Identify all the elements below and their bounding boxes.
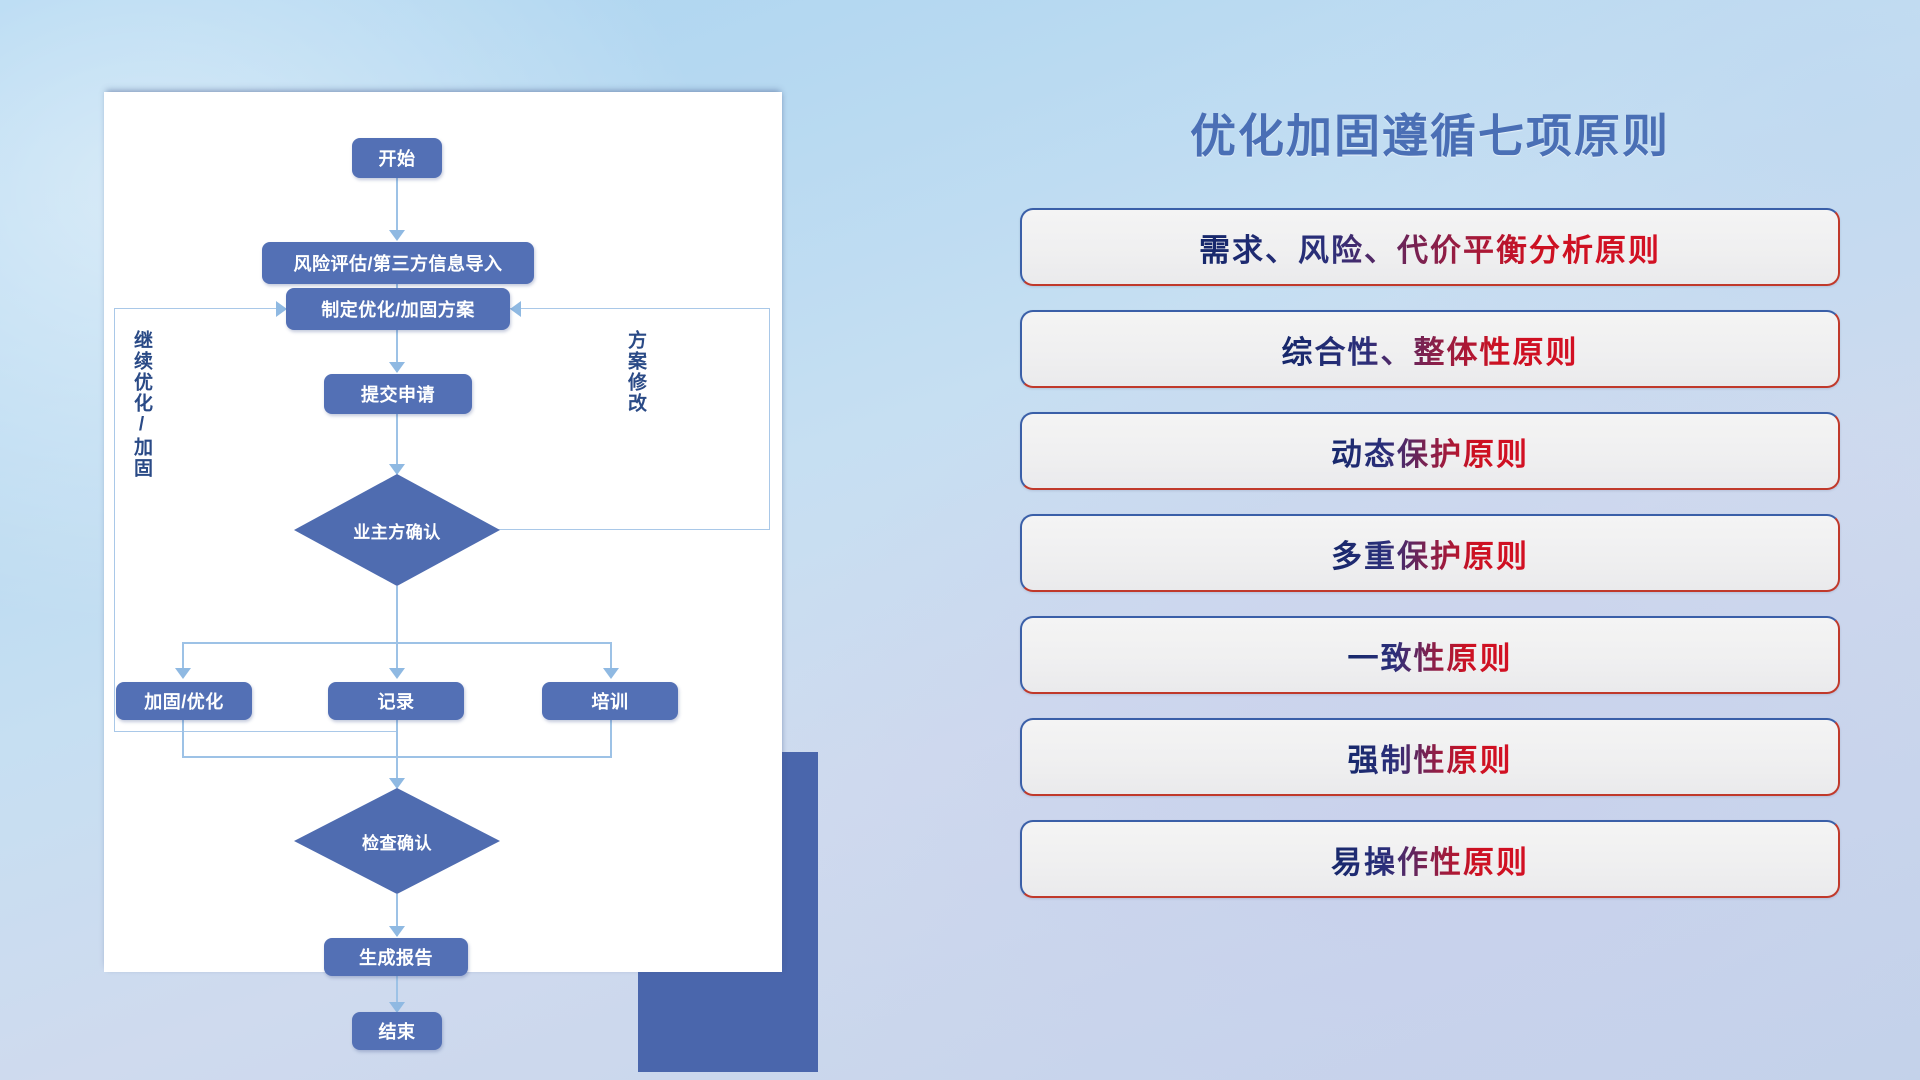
principle-card-1[interactable]: 需求、风险、代价平衡分析原则 — [1020, 208, 1840, 286]
edge-label-continue-optimize: 继续优化/加固 — [132, 330, 151, 479]
flowchart-panel: 开始 风险评估/第三方信息导入 制定优化/加固方案 提交申请 — [104, 92, 794, 962]
principles-title: 优化加固遵循七项原则 — [1020, 100, 1840, 166]
arrow-plan-to-submit — [389, 362, 405, 373]
principle-label-1: 需求、风险、代价平衡分析原则 — [1199, 225, 1661, 270]
node-report[interactable]: 生成报告 — [324, 938, 468, 976]
principle-label-6: 强制性原则 — [1348, 735, 1513, 780]
node-risk-assessment-label: 风险评估/第三方信息导入 — [294, 250, 503, 276]
node-submit-label: 提交申请 — [361, 381, 435, 407]
node-training-label: 培训 — [592, 688, 629, 714]
principles-panel: 优化加固遵循七项原则 需求、风险、代价平衡分析原则 综合性、整体性原则 动态保护… — [1020, 100, 1840, 922]
edge-merge-reinforce — [182, 720, 184, 758]
node-start[interactable]: 开始 — [352, 138, 442, 178]
principle-card-7[interactable]: 易操作性原则 — [1020, 820, 1840, 898]
plan-revise-loop-frame — [396, 308, 770, 530]
arrow-merge-to-inspect — [389, 778, 405, 789]
principle-label-3: 动态保护原则 — [1331, 429, 1529, 474]
principle-label-4: 多重保护原则 — [1331, 531, 1529, 576]
arrow-drop-reinforce — [175, 668, 191, 679]
arrow-drop-training — [603, 668, 619, 679]
node-end-label: 结束 — [379, 1018, 416, 1044]
principle-card-2[interactable]: 综合性、整体性原则 — [1020, 310, 1840, 388]
arrow-submit-to-owner-confirm — [389, 464, 405, 475]
edge-owner-confirm-down — [396, 586, 398, 644]
edge-label-plan-revise: 方案修改 — [626, 330, 645, 414]
node-reinforce-label: 加固/优化 — [144, 688, 224, 714]
node-inspect-confirm[interactable]: 检查确认 — [294, 788, 500, 894]
principle-card-6[interactable]: 强制性原则 — [1020, 718, 1840, 796]
arrow-plan-revise-into-plan — [510, 301, 521, 317]
arrow-start-to-risk — [389, 230, 405, 241]
node-submit[interactable]: 提交申请 — [324, 374, 472, 414]
principle-card-5[interactable]: 一致性原则 — [1020, 616, 1840, 694]
edge-merge-training — [610, 720, 612, 758]
node-reinforce[interactable]: 加固/优化 — [116, 682, 252, 720]
principle-label-7: 易操作性原则 — [1331, 837, 1529, 882]
node-record-label: 记录 — [378, 688, 415, 714]
node-owner-confirm-label: 业主方确认 — [353, 518, 441, 543]
arrow-inspect-to-report — [389, 926, 405, 937]
node-risk-assessment[interactable]: 风险评估/第三方信息导入 — [262, 242, 534, 284]
node-start-label: 开始 — [379, 145, 416, 171]
principle-label-2: 综合性、整体性原则 — [1282, 327, 1579, 372]
edge-merge-record — [396, 720, 398, 758]
node-inspect-confirm-label: 检查确认 — [362, 829, 432, 854]
node-plan-label: 制定优化/加固方案 — [321, 296, 475, 322]
node-report-label: 生成报告 — [359, 944, 433, 970]
flowchart-card: 开始 风险评估/第三方信息导入 制定优化/加固方案 提交申请 — [104, 92, 782, 972]
arrow-drop-record — [389, 668, 405, 679]
principle-label-5: 一致性原则 — [1348, 633, 1513, 678]
principle-card-4[interactable]: 多重保护原则 — [1020, 514, 1840, 592]
flowchart-canvas: 开始 风险评估/第三方信息导入 制定优化/加固方案 提交申请 — [104, 92, 782, 972]
node-training[interactable]: 培训 — [542, 682, 678, 720]
node-record[interactable]: 记录 — [328, 682, 464, 720]
node-end[interactable]: 结束 — [352, 1012, 442, 1050]
principle-card-3[interactable]: 动态保护原则 — [1020, 412, 1840, 490]
node-plan[interactable]: 制定优化/加固方案 — [286, 288, 510, 330]
edge-start-to-risk — [396, 178, 398, 236]
